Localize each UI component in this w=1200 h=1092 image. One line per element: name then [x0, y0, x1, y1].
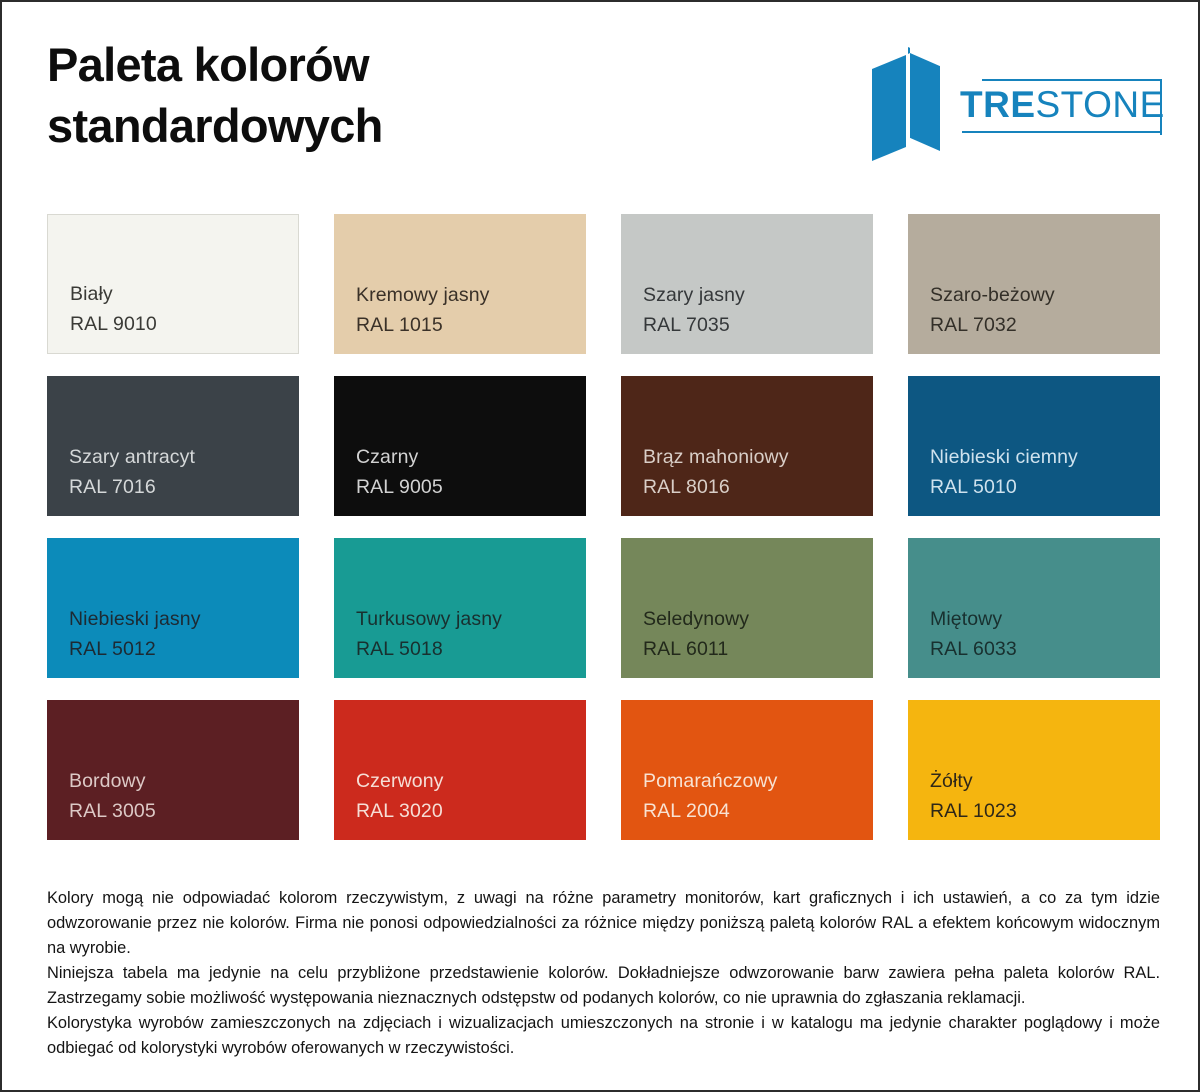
disclaimer-paragraph-2: Niniejsza tabela ma jedynie na celu przy…: [47, 961, 1160, 1011]
color-swatch[interactable]: Czerwony RAL 3020: [334, 700, 586, 840]
color-swatch[interactable]: Kremowy jasny RAL 1015: [334, 214, 586, 354]
color-swatch[interactable]: Szary antracyt RAL 7016: [47, 376, 299, 516]
swatch-code: RAL 9010: [70, 309, 298, 339]
color-swatch[interactable]: Szary jasny RAL 7035: [621, 214, 873, 354]
folded-panel-mark-icon: [870, 47, 950, 162]
swatch-name: Czerwony: [356, 766, 586, 796]
swatch-code: RAL 5012: [69, 634, 299, 664]
swatch-code: RAL 3020: [356, 796, 586, 826]
swatch-code: RAL 7016: [69, 472, 299, 502]
swatch-name: Miętowy: [930, 604, 1160, 634]
color-swatch[interactable]: Czarny RAL 9005: [334, 376, 586, 516]
swatch-name: Biały: [70, 279, 298, 309]
color-swatch[interactable]: Żółty RAL 1023: [908, 700, 1160, 840]
page-title: Paleta kolorów standardowych: [47, 34, 747, 156]
swatch-name: Kremowy jasny: [356, 280, 586, 310]
swatch-code: RAL 9005: [356, 472, 586, 502]
document-header: Paleta kolorów standardowych TRESTONE: [2, 2, 1200, 192]
color-swatch[interactable]: Szaro-beżowy RAL 7032: [908, 214, 1160, 354]
logo-text: TRESTONE: [960, 83, 1165, 127]
disclaimer-paragraph-3: Kolorystyka wyrobów zamieszczonych na zd…: [47, 1011, 1160, 1061]
swatch-row: Szary antracyt RAL 7016 Czarny RAL 9005 …: [47, 376, 1160, 516]
color-swatch[interactable]: Turkusowy jasny RAL 5018: [334, 538, 586, 678]
swatch-name: Czarny: [356, 442, 586, 472]
logo-wordmark: TRESTONE: [952, 75, 1162, 135]
color-swatch[interactable]: Seledynowy RAL 6011: [621, 538, 873, 678]
swatch-name: Pomarańczowy: [643, 766, 873, 796]
swatch-name: Szary jasny: [643, 280, 873, 310]
color-swatch[interactable]: Niebieski ciemny RAL 5010: [908, 376, 1160, 516]
swatch-code: RAL 8016: [643, 472, 873, 502]
swatch-code: RAL 6011: [643, 634, 873, 664]
swatch-code: RAL 3005: [69, 796, 299, 826]
color-swatch[interactable]: Bordowy RAL 3005: [47, 700, 299, 840]
swatch-code: RAL 5010: [930, 472, 1160, 502]
disclaimer-paragraph-1: Kolory mogą nie odpowiadać kolorom rzecz…: [47, 886, 1160, 961]
swatch-row: Biały RAL 9010 Kremowy jasny RAL 1015 Sz…: [47, 214, 1160, 354]
logo-text-light: STONE: [1036, 84, 1165, 125]
color-swatch[interactable]: Brąz mahoniowy RAL 8016: [621, 376, 873, 516]
swatch-code: RAL 5018: [356, 634, 586, 664]
swatch-name: Brąz mahoniowy: [643, 442, 873, 472]
disclaimer-block: Kolory mogą nie odpowiadać kolorom rzecz…: [47, 886, 1160, 1061]
swatch-name: Seledynowy: [643, 604, 873, 634]
logo-text-bold: TRE: [960, 84, 1036, 125]
swatch-code: RAL 7035: [643, 310, 873, 340]
color-palette-document: Paleta kolorów standardowych TRESTONE: [0, 0, 1200, 1092]
swatch-name: Szaro-beżowy: [930, 280, 1160, 310]
logo-frame-top: [982, 79, 1162, 81]
swatch-name: Niebieski jasny: [69, 604, 299, 634]
swatch-grid: Biały RAL 9010 Kremowy jasny RAL 1015 Sz…: [47, 214, 1160, 862]
color-swatch[interactable]: Biały RAL 9010: [47, 214, 299, 354]
color-swatch[interactable]: Miętowy RAL 6033: [908, 538, 1160, 678]
swatch-row: Bordowy RAL 3005 Czerwony RAL 3020 Pomar…: [47, 700, 1160, 840]
swatch-code: RAL 2004: [643, 796, 873, 826]
swatch-code: RAL 6033: [930, 634, 1160, 664]
swatch-row: Niebieski jasny RAL 5012 Turkusowy jasny…: [47, 538, 1160, 678]
swatch-name: Niebieski ciemny: [930, 442, 1160, 472]
swatch-code: RAL 1023: [930, 796, 1160, 826]
swatch-name: Bordowy: [69, 766, 299, 796]
trestone-logo: TRESTONE: [870, 47, 1162, 162]
color-swatch[interactable]: Pomarańczowy RAL 2004: [621, 700, 873, 840]
swatch-code: RAL 7032: [930, 310, 1160, 340]
swatch-name: Turkusowy jasny: [356, 604, 586, 634]
logo-frame-bottom: [962, 131, 1162, 133]
swatch-code: RAL 1015: [356, 310, 586, 340]
color-swatch[interactable]: Niebieski jasny RAL 5012: [47, 538, 299, 678]
swatch-name: Żółty: [930, 766, 1160, 796]
swatch-name: Szary antracyt: [69, 442, 299, 472]
